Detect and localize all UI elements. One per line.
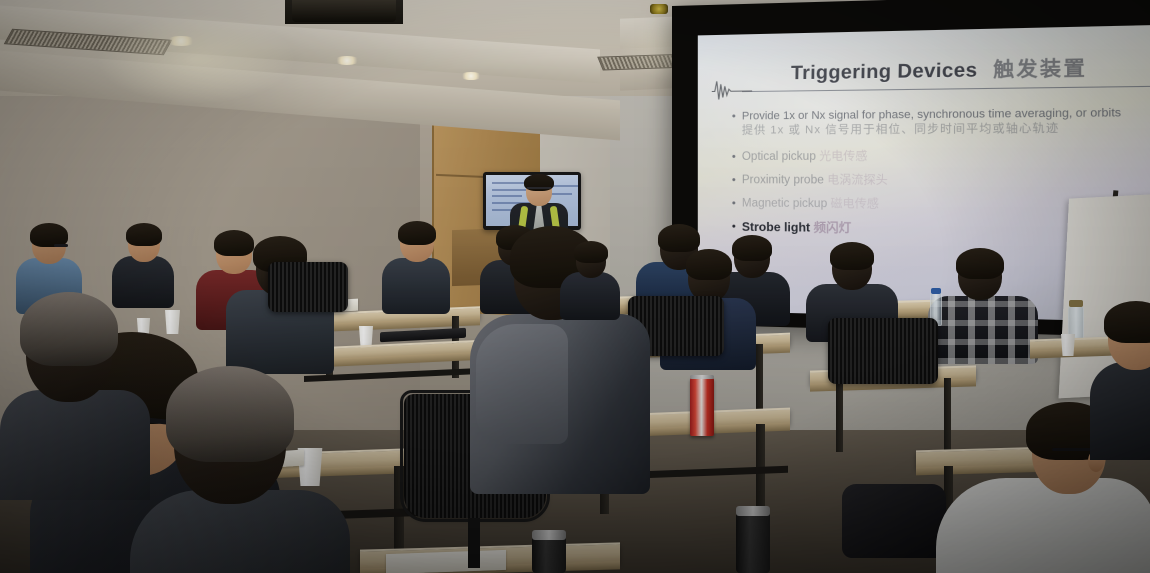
bullet-text-en: Proximity probe: [742, 174, 824, 186]
bullet-marker: •: [732, 173, 736, 187]
bullet-text: Strobe light 频闪灯: [742, 220, 851, 237]
attendee: [0, 298, 150, 498]
bullet-text-en: Strobe light: [742, 220, 810, 235]
paper-cup: [164, 310, 181, 334]
bullet-text-en: Magnetic pickup: [742, 197, 827, 210]
backpack: [842, 484, 946, 558]
attendee: [1090, 306, 1150, 456]
bullet-text: Proximity probe 电涡流探头: [742, 173, 888, 188]
bullet-text-cn: 光电传感: [819, 151, 867, 163]
glasses-icon: [527, 187, 551, 192]
attendee-checkered-shirt: [928, 252, 1038, 362]
classroom-scene: Triggering Devices 触发装置 • Provide 1x or …: [0, 0, 1150, 573]
bullet-text-cn: 电涡流探头: [827, 174, 888, 187]
bullet-text-en: Optical pickup: [742, 151, 816, 163]
bullet-marker: •: [732, 196, 736, 210]
ceiling-downlight: [460, 72, 482, 80]
mesh-office-chair: [828, 318, 938, 384]
attendee: [382, 224, 450, 310]
slide-bullet-optical-pickup: • Optical pickup 光电传感: [732, 149, 1150, 165]
projector-lens-icon: [650, 4, 668, 14]
bullet-text-en: Provide 1x or Nx signal for phase, synch…: [742, 107, 1121, 123]
thermos-cap: [736, 506, 770, 516]
thermos-flask: [532, 536, 566, 573]
bullet-text-cn: 频闪灯: [814, 221, 852, 236]
bullet-marker: •: [732, 150, 736, 164]
slide-title-en: Triggering Devices: [791, 60, 978, 86]
slide-bullet-proximity-probe: • Proximity probe 电涡流探头: [732, 173, 1150, 190]
ceiling-downlight: [334, 56, 360, 65]
ceiling-downlight: [166, 36, 196, 46]
handout-paper: [386, 550, 506, 573]
mesh-office-chair: [268, 262, 348, 312]
beverage-can: [690, 378, 714, 436]
slide-divider: [742, 86, 1150, 92]
bottle-cap: [1069, 300, 1083, 307]
hood: [476, 324, 568, 444]
bullet-text: Magnetic pickup 磁电传感: [742, 196, 879, 212]
bullet-marker: •: [732, 220, 736, 234]
bullet-text-cn: 磁电传感: [831, 197, 879, 210]
bullet-marker: •: [732, 109, 736, 123]
bullet-text-cn: 提供 1x 或 Nx 信号用于相位、同步时间平均或轴心轨迹: [742, 122, 1060, 136]
attendee: [560, 244, 620, 314]
can-top: [690, 375, 714, 379]
slide-title: Triggering Devices 触发装置: [724, 51, 1150, 86]
bottle-cap: [931, 288, 941, 294]
attendee: [130, 372, 350, 573]
ceiling-projector: [292, 0, 396, 22]
thermos-cap: [532, 530, 566, 540]
attendee: [112, 226, 174, 306]
slide-bullet-lead: • Provide 1x or Nx signal for phase, syn…: [732, 105, 1150, 138]
bullet-text: Provide 1x or Nx signal for phase, synch…: [742, 106, 1121, 138]
slide-title-cn: 触发装置: [993, 52, 1087, 82]
bullet-text: Optical pickup 光电传感: [742, 150, 868, 165]
waveform-icon: [710, 75, 754, 106]
paper-cup: [1060, 334, 1076, 356]
thermos-flask: [736, 512, 770, 573]
